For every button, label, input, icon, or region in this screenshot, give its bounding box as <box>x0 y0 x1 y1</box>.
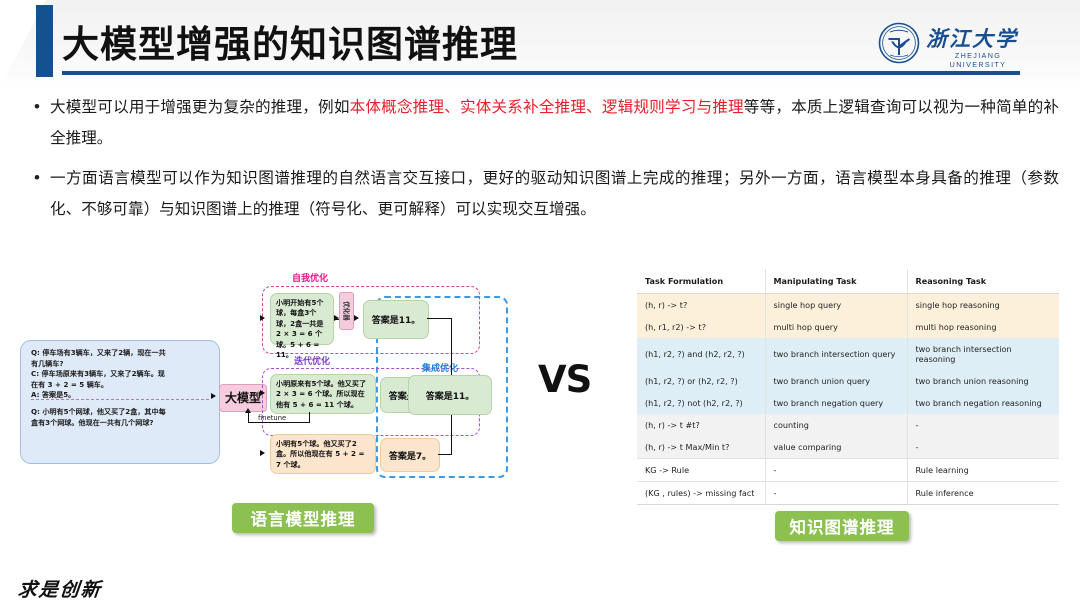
caption-kg-reasoning: 知识图谱推理 <box>775 511 909 541</box>
title-accent-bar <box>36 5 53 77</box>
answer-self-box: 答案是11。 <box>363 300 429 339</box>
cell-manipulating: - <box>765 482 907 505</box>
bullet-marker: • <box>24 163 50 225</box>
arrow-finetune-drop <box>309 412 310 423</box>
prompt-line-6: Q: 小明有5个网球，他又买了2盒，其中每 <box>31 407 211 418</box>
bullet-item-2: • 一方面语言模型可以作为知识图谱推理的自然语言交互接口，更好的驱动知识图谱上完… <box>24 163 1059 225</box>
cell-reasoning: single hop reasoning <box>907 294 1059 317</box>
table-row: (h1, r2, ?) and (h2, r2, ?) two branch i… <box>637 338 1059 370</box>
cell-formulation: (h, r) -> t #t? <box>637 414 765 436</box>
cot-incorrect-box: 小明有5个球。他又买了2盒。所以他现在有 5 + 2 = 7 个球。 <box>270 434 376 474</box>
caption-language-model-reasoning: 语言模型推理 <box>232 503 374 533</box>
cell-manipulating: value comparing <box>765 436 907 459</box>
prompt-line-2: 有几辆车? <box>31 359 211 370</box>
prompt-line-1: Q: 停车场有3辆车，又来了2辆，现在一共 <box>31 348 211 359</box>
prompt-line-4: 在有 3 + 2 = 5 辆车。 <box>31 380 211 391</box>
cell-manipulating: two branch union query <box>765 370 907 392</box>
kg-reasoning-task-table: Task Formulation Manipulating Task Reaso… <box>637 269 1059 505</box>
logo-name-en: ZHEJIANG UNIVERSITY <box>926 51 1030 69</box>
prompt-line-7: 盒有3个网球。他现在一共有几个网球? <box>31 418 211 429</box>
cell-formulation: (KG , rules) -> missing fact <box>637 482 765 505</box>
prompt-question-box: Q: 停车场有3辆车，又来了2辆，现在一共 有几辆车? C: 停车场原来有3辆车… <box>20 340 220 464</box>
bullet-marker: • <box>24 92 50 154</box>
cot-iterative-box: 小明原来有5个球。他又买了 2 × 3 = 6 个球。所以现在他有 5 + 6 … <box>270 374 376 414</box>
table-row: (h1, r2, ?) not (h2, r2, ?) two branch n… <box>637 392 1059 414</box>
cell-reasoning: two branch negation reasoning <box>907 392 1059 414</box>
title-underline-rule <box>62 71 1020 75</box>
page-title: 大模型增强的知识图谱推理 <box>62 14 518 68</box>
ensemble-optimize-label: 集成优化 <box>422 361 458 374</box>
cell-reasoning: two branch union reasoning <box>907 370 1059 392</box>
cell-reasoning: - <box>907 414 1059 436</box>
cell-manipulating: multi hop query <box>765 316 907 338</box>
answer-ensemble-box: 答案是11。 <box>408 375 492 415</box>
bullet-1-highlight: 本体概念推理、实体关系补全推理、逻辑规则学习与推理 <box>350 98 744 116</box>
arrowhead-model-to-cot-iter <box>260 390 265 396</box>
answer-incorrect-box: 答案是7。 <box>380 438 440 472</box>
cell-reasoning: Rule learning <box>907 459 1059 482</box>
finetune-label: finetune <box>258 414 286 422</box>
zju-emblem-icon <box>878 22 920 64</box>
arrowhead-model-to-cot-wrong <box>260 450 265 456</box>
table-row: (h, r1, r2) -> t? multi hop query multi … <box>637 316 1059 338</box>
logo-name-cn: 浙江大学 <box>926 23 1028 53</box>
cell-manipulating: two branch intersection query <box>765 338 907 370</box>
table-col-manipulating-task: Manipulating Task <box>765 269 907 294</box>
line-wrong-answer-out <box>438 454 452 455</box>
arrowhead-model-to-cot-self <box>260 315 265 321</box>
slide-root: 大模型增强的知识图谱推理 浙江大学 ZHEJIANG UNIVERSITY • … <box>0 0 1080 608</box>
cot-self-box: 小明开始有5个球，每盒3个球，2盒一共是 2 × 3 = 6 个球。5 + 6 … <box>270 293 334 345</box>
footer-calligraphy: 求是创新 <box>17 575 104 602</box>
cell-reasoning: Rule inference <box>907 482 1059 505</box>
bullet-text-1: 大模型可以用于增强更为复杂的推理，例如本体概念推理、实体关系补全推理、逻辑规则学… <box>50 92 1059 154</box>
llm-reasoning-diagram: Q: 停车场有3辆车，又来了2辆，现在一共 有几辆车? C: 停车场原来有3辆车… <box>8 262 508 490</box>
cell-reasoning: - <box>907 436 1059 459</box>
line-self-answer-out <box>427 318 452 319</box>
cell-formulation: (h, r) -> t Max/Min t? <box>637 436 765 459</box>
optimizer-label-text: 优化器 <box>342 301 351 320</box>
iterative-optimize-label: 迭代优化 <box>294 354 330 367</box>
table-row: KG -> Rule - Rule learning <box>637 459 1059 482</box>
arrowhead-optimizer-to-answer <box>354 315 359 321</box>
cell-reasoning: two branch intersection reasoning <box>907 338 1059 370</box>
cell-manipulating: - <box>765 459 907 482</box>
table-col-reasoning-task: Reasoning Task <box>907 269 1059 294</box>
cell-formulation: (h, r1, r2) -> t? <box>637 316 765 338</box>
table-col-task-formulation: Task Formulation <box>637 269 765 294</box>
table-header-row: Task Formulation Manipulating Task Reaso… <box>637 269 1059 294</box>
self-optimize-label: 自我优化 <box>292 271 328 284</box>
bullet-1-seg-1: 大模型可以用于增强更为复杂的推理，例如 <box>50 98 350 116</box>
arrow-finetune-line <box>248 422 310 423</box>
cell-formulation: (h1, r2, ?) and (h2, r2, ?) <box>637 338 765 370</box>
cell-manipulating: two branch negation query <box>765 392 907 414</box>
cell-formulation: (h1, r2, ?) not (h2, r2, ?) <box>637 392 765 414</box>
cell-formulation: (h1, r2, ?) or (h2, r2, ?) <box>637 370 765 392</box>
table-row: (h, r) -> t Max/Min t? value comparing - <box>637 436 1059 459</box>
optimizer-vertical-label: 优化器 <box>339 292 354 330</box>
bullet-item-1: • 大模型可以用于增强更为复杂的推理，例如本体概念推理、实体关系补全推理、逻辑规… <box>24 92 1059 154</box>
arrow-finetune-riser <box>248 412 249 423</box>
cell-formulation: KG -> Rule <box>637 459 765 482</box>
bullet-text-2: 一方面语言模型可以作为知识图谱推理的自然语言交互接口，更好的驱动知识图谱上完成的… <box>50 163 1059 225</box>
vs-label: VS <box>538 358 591 401</box>
cell-formulation: (h, r) -> t? <box>637 294 765 317</box>
cell-reasoning: multi hop reasoning <box>907 316 1059 338</box>
bullet-list: • 大模型可以用于增强更为复杂的推理，例如本体概念推理、实体关系补全推理、逻辑规… <box>24 92 1059 234</box>
prompt-divider <box>31 399 209 400</box>
cell-manipulating: counting <box>765 414 907 436</box>
llm-node: 大模型 <box>219 384 267 412</box>
table-row: (KG , rules) -> missing fact - Rule infe… <box>637 482 1059 505</box>
cell-manipulating: single hop query <box>765 294 907 317</box>
table-row: (h, r) -> t #t? counting - <box>637 414 1059 436</box>
university-logo: 浙江大学 ZHEJIANG UNIVERSITY <box>878 21 1028 67</box>
table-row: (h, r) -> t? single hop query single hop… <box>637 294 1059 317</box>
table-row: (h1, r2, ?) or (h2, r2, ?) two branch un… <box>637 370 1059 392</box>
arrowhead-finetune <box>245 408 251 413</box>
prompt-line-3: C: 停车场原来有3辆车，又来了2辆车。现 <box>31 369 211 380</box>
arrowhead-prompt-to-model <box>211 393 216 399</box>
